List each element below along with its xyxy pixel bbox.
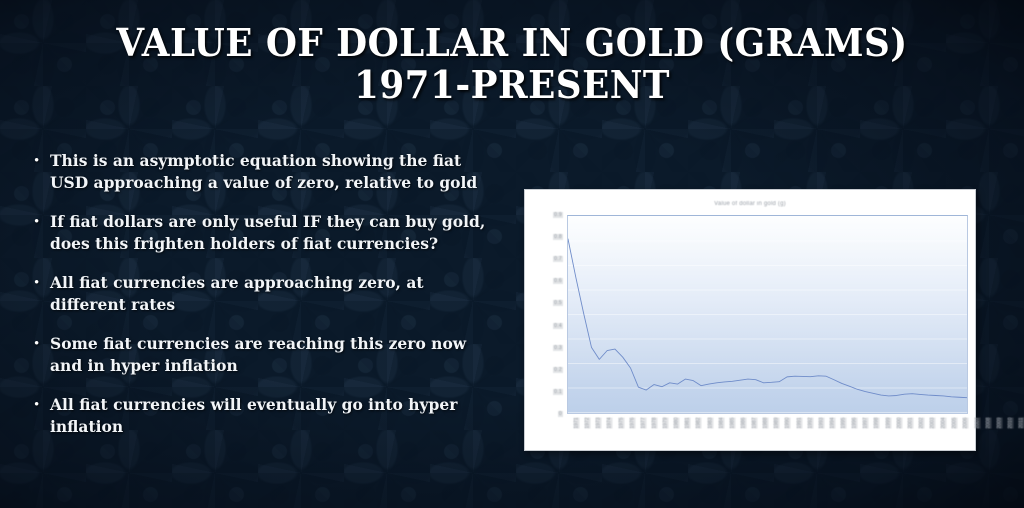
list-item: •Some fiat currencies are reaching this … bbox=[34, 333, 494, 377]
y-axis-tick-label: 0.3 bbox=[553, 345, 563, 351]
x-axis-tick-label: 1983 bbox=[707, 417, 713, 428]
list-item: •All fiat currencies are approaching zer… bbox=[34, 272, 494, 316]
x-axis-tick-label: 1989 bbox=[774, 417, 780, 428]
x-axis-tick-label: 1977 bbox=[640, 417, 646, 428]
x-axis-tick-label: 1981 bbox=[685, 417, 691, 428]
x-axis-tick-label: 1984 bbox=[718, 417, 724, 428]
y-axis-tick-label: 0.7 bbox=[553, 256, 563, 262]
bullet-dot-icon: • bbox=[34, 272, 50, 294]
y-axis-tick-label: 0.9 bbox=[553, 212, 563, 218]
x-axis-tick-label: 1985 bbox=[729, 417, 735, 428]
y-axis-tick-label: 0.5 bbox=[553, 300, 563, 306]
bullet-dot-icon: • bbox=[34, 394, 50, 416]
x-axis-tick-label: 2004 bbox=[941, 417, 947, 428]
x-axis-tick-label: 1974 bbox=[607, 417, 613, 428]
x-axis-tick-label: 1993 bbox=[818, 417, 824, 428]
chart-inner: Value of dollar in gold (g) 0.90.80.70.6… bbox=[525, 190, 975, 450]
bullet-text: All fiat currencies are approaching zero… bbox=[50, 272, 494, 316]
list-item: •If fiat dollars are only useful IF they… bbox=[34, 211, 494, 255]
bullet-text: Some fiat currencies are reaching this z… bbox=[50, 333, 494, 377]
y-axis-tick-label: 0.2 bbox=[553, 367, 563, 373]
x-axis-tick-label: 1990 bbox=[785, 417, 791, 428]
y-axis-tick-label: 0.1 bbox=[553, 389, 563, 395]
x-axis-tick-label: 1978 bbox=[651, 417, 657, 428]
x-axis-tick-label: 1999 bbox=[885, 417, 891, 428]
bullet-text: This is an asymptotic equation showing t… bbox=[50, 150, 494, 194]
y-axis-tick-label: 0.6 bbox=[553, 278, 563, 284]
x-axis-tick-label: 1980 bbox=[674, 417, 680, 428]
bullet-text: All fiat currencies will eventually go i… bbox=[50, 394, 494, 438]
x-axis-tick-label: 2007 bbox=[974, 417, 980, 428]
y-axis-tick-label: 0.4 bbox=[553, 323, 563, 329]
x-axis-tick-label: 2010 bbox=[1007, 417, 1013, 428]
x-axis-tick-label: 1971 bbox=[574, 417, 580, 428]
chart-plot-area bbox=[567, 215, 968, 414]
x-axis-tick-label: 1986 bbox=[740, 417, 746, 428]
x-axis-tick-label: 1976 bbox=[629, 417, 635, 428]
x-axis-tick-label: 2009 bbox=[996, 417, 1002, 428]
x-axis-tick-label: 2003 bbox=[930, 417, 936, 428]
x-axis-tick-label: 1988 bbox=[763, 417, 769, 428]
bullet-dot-icon: • bbox=[34, 333, 50, 355]
x-axis-tick-label: 2011 bbox=[1018, 418, 1024, 429]
bullet-text: If fiat dollars are only useful IF they … bbox=[50, 211, 494, 255]
x-axis-tick-label: 1972 bbox=[585, 417, 591, 428]
y-axis-tick-label: 0.8 bbox=[553, 234, 563, 240]
x-axis-tick-label: 2006 bbox=[963, 417, 969, 428]
x-axis-tick-label: 1996 bbox=[852, 417, 858, 428]
x-axis-tick-label: 2002 bbox=[918, 417, 924, 428]
x-axis-tick-label: 1998 bbox=[874, 417, 880, 428]
x-axis-tick-label: 1994 bbox=[829, 417, 835, 428]
x-axis-tick-label: 1995 bbox=[841, 417, 847, 428]
chart-x-axis: 1971197219731974197519761977197819791980… bbox=[568, 416, 967, 444]
chart-panel[interactable]: Value of dollar in gold (g) 0.90.80.70.6… bbox=[524, 189, 976, 451]
bullet-dot-icon: • bbox=[34, 150, 50, 172]
chart-series-line bbox=[568, 216, 967, 413]
slide-canvas: Value of Dollar in Gold (Grams) 1971-Pre… bbox=[0, 0, 1024, 508]
x-axis-tick-label: 1991 bbox=[796, 417, 802, 428]
x-axis-tick-label: 2000 bbox=[896, 417, 902, 428]
x-axis-tick-label: 1975 bbox=[618, 417, 624, 428]
y-axis-tick-label: 0 bbox=[558, 411, 563, 417]
x-axis-tick-label: 1997 bbox=[863, 417, 869, 428]
bullet-list: •This is an asymptotic equation showing … bbox=[34, 150, 494, 455]
x-axis-tick-label: 1992 bbox=[807, 417, 813, 428]
x-axis-tick-label: 1987 bbox=[752, 417, 758, 428]
list-item: •All fiat currencies will eventually go … bbox=[34, 394, 494, 438]
series-polyline bbox=[568, 239, 967, 398]
x-axis-tick-label: 2008 bbox=[985, 417, 991, 428]
chart-y-axis: 0.90.80.70.60.50.40.30.20.10 bbox=[527, 215, 565, 414]
list-item: •This is an asymptotic equation showing … bbox=[34, 150, 494, 194]
slide-title: Value of Dollar in Gold (Grams) 1971-Pre… bbox=[53, 22, 970, 106]
x-axis-tick-label: 1973 bbox=[596, 417, 602, 428]
x-axis-tick-label: 2001 bbox=[907, 417, 913, 428]
chart-title: Value of dollar in gold (g) bbox=[525, 201, 975, 207]
x-axis-tick-label: 2005 bbox=[952, 417, 958, 428]
bullet-dot-icon: • bbox=[34, 211, 50, 233]
x-axis-tick-label: 1979 bbox=[663, 417, 669, 428]
x-axis-tick-label: 1982 bbox=[696, 417, 702, 428]
